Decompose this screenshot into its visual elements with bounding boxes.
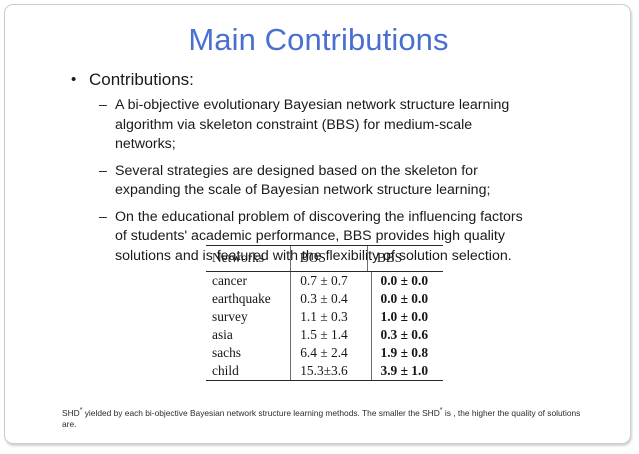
results-table: Networks BOS BBS [206, 246, 443, 271]
cell-bos: 0.3 ± 0.4 [291, 290, 371, 308]
cell-network: earthquake [206, 290, 291, 308]
dash-marker-icon: – [99, 208, 107, 228]
bullet-dot-icon: • [71, 69, 76, 91]
cell-bbs: 1.0 ± 0.0 [371, 308, 443, 326]
cell-bos: 0.7 ± 0.7 [291, 272, 371, 290]
cell-bbs: 1.9 ± 0.8 [371, 344, 443, 362]
table-body: cancer 0.7 ± 0.7 0.0 ± 0.0 earthquake 0.… [206, 272, 443, 380]
cell-network: sachs [206, 344, 291, 362]
dash-marker-icon: – [99, 96, 107, 116]
results-table-container: Networks BOS BBS cancer 0.7 ± 0.7 0.0 ± … [206, 245, 443, 381]
table-caption: SHD* yielded by each bi-objective Bayesi… [62, 405, 582, 431]
cell-bos: 1.5 ± 1.4 [291, 326, 371, 344]
table-header-bos: BOS [290, 246, 367, 271]
table-row: child 15.3±3.6 3.9 ± 1.0 [206, 362, 443, 380]
cell-bbs: 3.9 ± 1.0 [371, 362, 443, 380]
bullet-level2-label-2: Several strategies are designed based on… [115, 163, 490, 199]
table-row: cancer 0.7 ± 0.7 0.0 ± 0.0 [206, 272, 443, 290]
dash-marker-icon: – [99, 162, 107, 182]
cell-bos: 15.3±3.6 [291, 362, 371, 380]
cell-bos: 6.4 ± 2.4 [291, 344, 371, 362]
caption-part-2: yielded by each bi-objective Bayesian ne… [82, 408, 439, 418]
cell-bbs: 0.0 ± 0.0 [371, 272, 443, 290]
table-row: survey 1.1 ± 0.3 1.0 ± 0.0 [206, 308, 443, 326]
table-header-row: Networks BOS BBS [206, 246, 443, 271]
slide-body: • Contributions: – A bi-objective evolut… [5, 69, 631, 273]
table-header: Networks BOS BBS [206, 246, 443, 271]
cell-bos: 1.1 ± 0.3 [291, 308, 371, 326]
page-title: Main Contributions [5, 21, 631, 59]
slide-canvas: Main Contributions • Contributions: – A … [4, 4, 631, 444]
bullet-level2-item-1: – A bi-objective evolutionary Bayesian n… [5, 96, 631, 155]
caption-part-1: SHD [62, 408, 80, 418]
table-bottom-rule [206, 380, 443, 381]
cell-network: cancer [206, 272, 291, 290]
table-header-networks: Networks [206, 246, 290, 271]
cell-network: asia [206, 326, 291, 344]
cell-bbs: 0.3 ± 0.6 [371, 326, 443, 344]
results-table-body: cancer 0.7 ± 0.7 0.0 ± 0.0 earthquake 0.… [206, 272, 443, 380]
table-row: earthquake 0.3 ± 0.4 0.0 ± 0.0 [206, 290, 443, 308]
table-row: asia 1.5 ± 1.4 0.3 ± 0.6 [206, 326, 443, 344]
bullet-level2-label-1: A bi-objective evolutionary Bayesian net… [115, 97, 509, 152]
cell-network: survey [206, 308, 291, 326]
bullet-level2-item-2: – Several strategies are designed based … [5, 162, 631, 201]
table-header-bbs: BBS [367, 246, 443, 271]
bullet-level1-label: Contributions: [89, 70, 194, 89]
table-row: sachs 6.4 ± 2.4 1.9 ± 0.8 [206, 344, 443, 362]
cell-bbs: 0.0 ± 0.0 [371, 290, 443, 308]
cell-network: child [206, 362, 291, 380]
bullet-level1-contributions: • Contributions: [5, 69, 631, 91]
